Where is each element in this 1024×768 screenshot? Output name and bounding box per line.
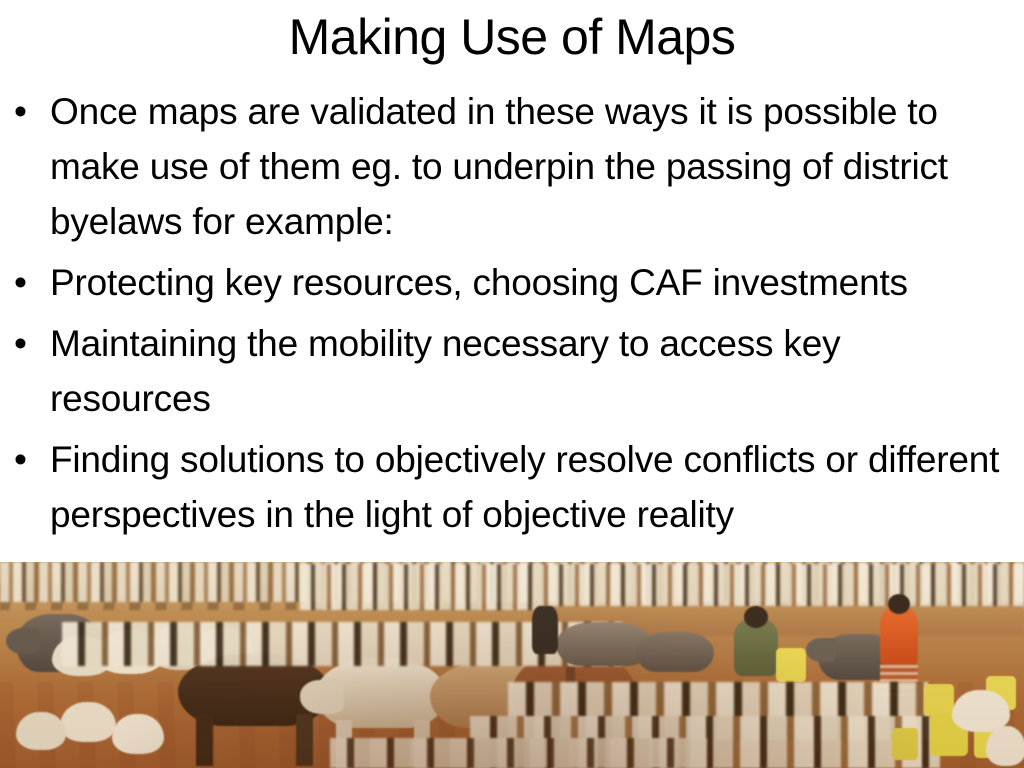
bullet-marker-icon: • [14,316,27,371]
photo-jerry-can [776,648,806,682]
photo-donkey-head [6,628,40,654]
bullet-marker-icon: • [14,255,27,310]
bullet-text: Protecting key resources, choosing CAF i… [50,255,1024,310]
photo-cattle-dark-leg [296,714,313,766]
photo-person-dark [532,606,558,654]
list-item: • Finding solutions to objectively resol… [0,432,1024,542]
photo-cattle-dark-leg [196,714,213,766]
slide: Making Use of Maps • Once maps are valid… [0,0,1024,768]
bullet-marker-icon: • [14,84,27,139]
list-item: • Protecting key resources, choosing CAF… [0,255,1024,310]
bullet-text: Once maps are validated in these ways it… [50,84,1024,249]
photo-person-orange-shirt [880,608,918,668]
photo-person-green-shirt [734,620,778,676]
photo-goat [986,726,1024,766]
photo-goat-mass [330,738,710,768]
photo-background-goat-row [300,564,1024,610]
list-item: • Maintaining the mobility necessary to … [0,316,1024,426]
bullet-list: • Once maps are validated in these ways … [0,84,1024,548]
photo-jerry-can [924,684,954,716]
photo-goat [16,712,66,750]
photo-jerry-can [892,728,918,760]
bullet-text: Finding solutions to objectively resolve… [50,432,1024,542]
photo-cattle-white-head [300,680,344,714]
bullet-text: Maintaining the mobility necessary to ac… [50,316,1024,426]
photo-person-green-shirt-head [744,606,768,628]
photo-goat [60,702,116,742]
page-title: Making Use of Maps [0,6,1024,68]
photo-goat [112,714,164,754]
photo-donkey-head [806,638,836,662]
photo-person-orange-shirt-head [888,594,910,614]
list-item: • Once maps are validated in these ways … [0,84,1024,249]
livestock-herd-photo [0,562,1024,768]
photo-donkey [636,632,714,672]
bullet-marker-icon: • [14,432,27,487]
